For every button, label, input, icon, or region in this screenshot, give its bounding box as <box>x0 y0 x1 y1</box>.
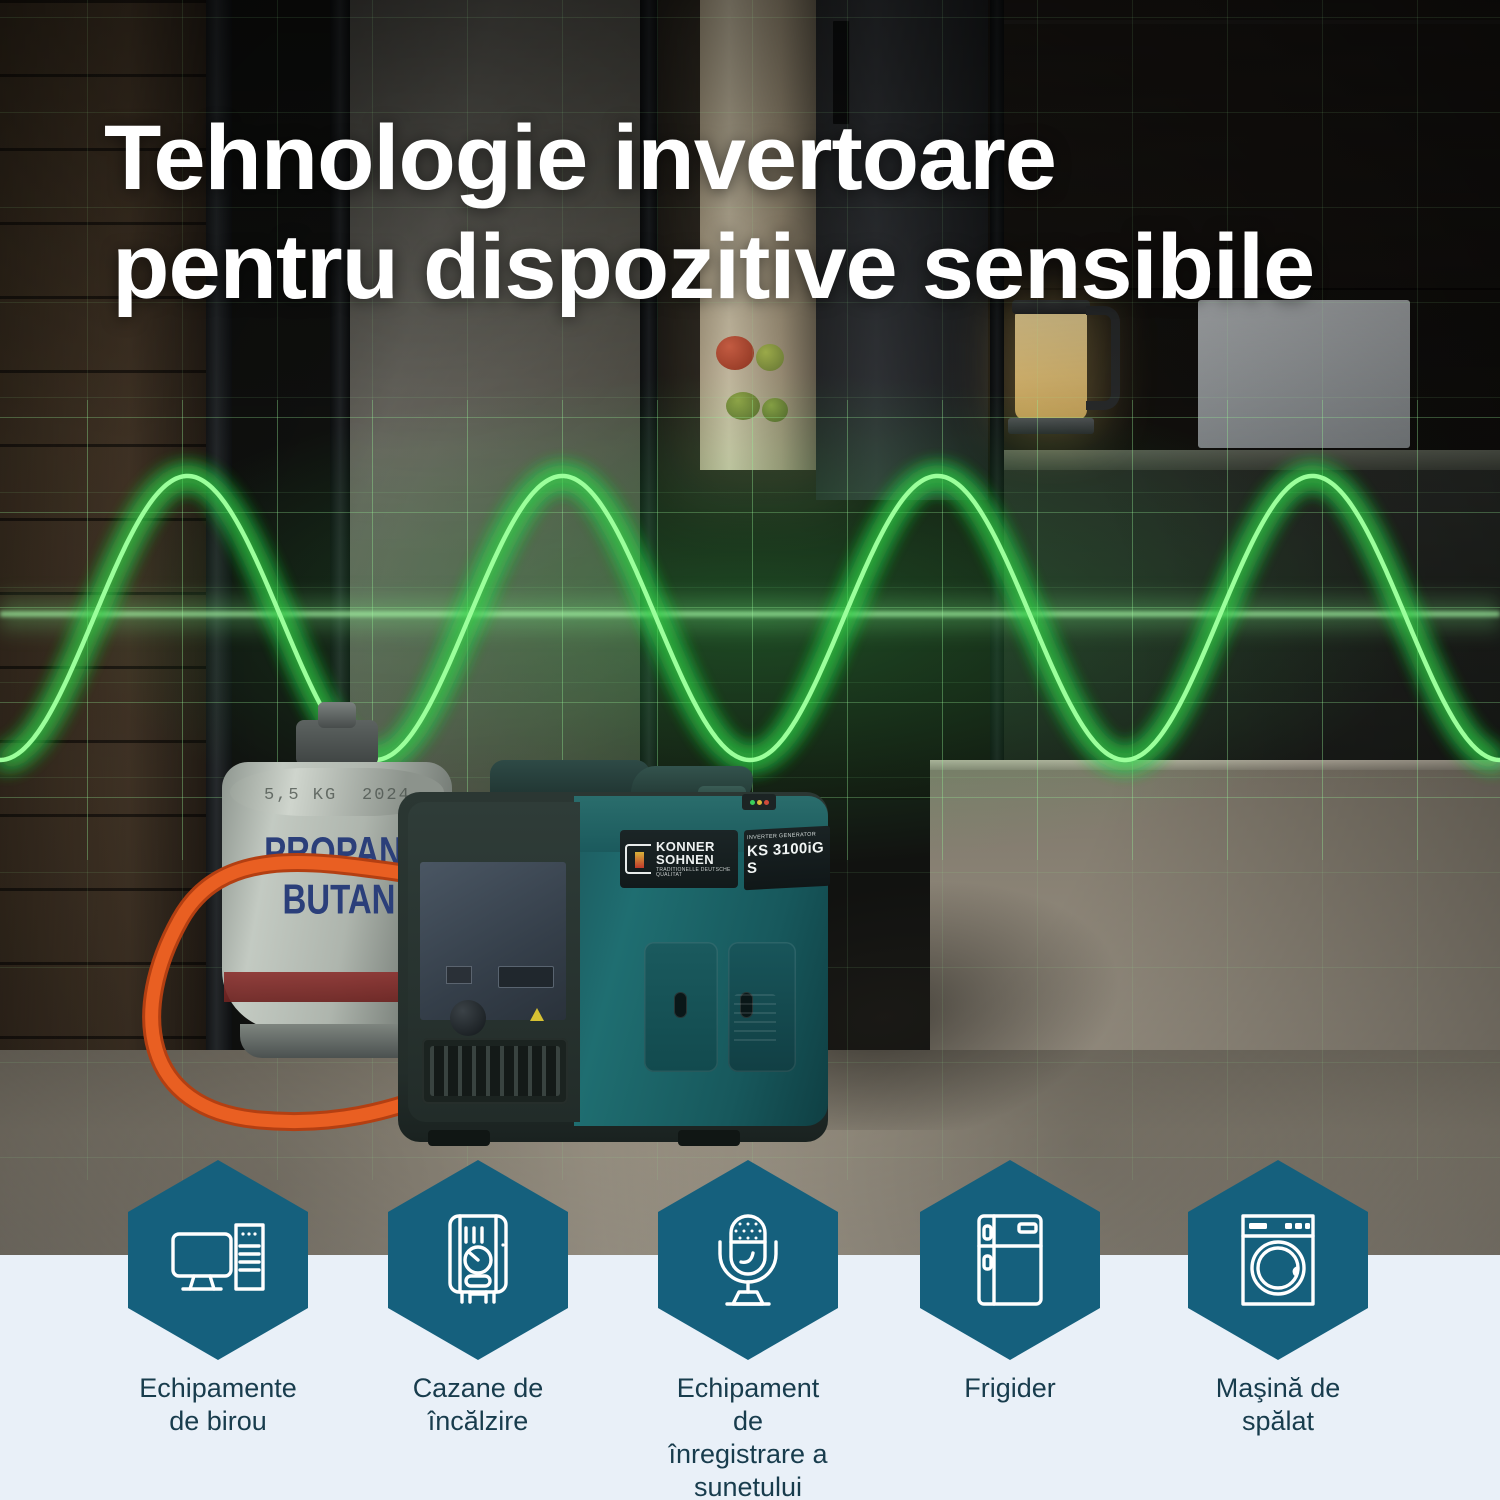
feature-heating-boiler[interactable]: Cazane de încălzire <box>388 1160 568 1438</box>
feature-label: Echipament de înregistrare a sunetului <box>658 1372 838 1500</box>
microphone-icon <box>658 1160 838 1360</box>
inverter-generator: KONNER SOHNEN TRADITIONELLE DEUTSCHE QUA… <box>398 772 828 1162</box>
feature-washing-machine[interactable]: Maşină de spălat <box>1188 1160 1368 1438</box>
feature-label: Frigider <box>920 1372 1100 1405</box>
generator-foot <box>428 1130 490 1146</box>
desktop-computer-icon <box>128 1160 308 1360</box>
feature-label: Maşină de spălat <box>1188 1372 1368 1438</box>
feature-label: Cazane de încălzire <box>388 1372 568 1438</box>
feature-list: Echipamente de birou <box>0 1160 1500 1500</box>
marketing-banner: 1:48 <box>0 0 1500 1500</box>
headline-line-2: pentru dispozitive sensibile <box>104 213 1430 322</box>
feature-office-equipment[interactable]: Echipamente de birou <box>128 1160 308 1438</box>
generator-foot <box>678 1130 740 1146</box>
panel-selector-knob[interactable] <box>450 1000 486 1036</box>
status-led-strip <box>742 794 776 810</box>
water-heater-icon <box>388 1160 568 1360</box>
grille-bars <box>430 1046 560 1096</box>
refrigerator-icon <box>920 1160 1100 1360</box>
brand-badge: KONNER SOHNEN TRADITIONELLE DEUTSCHE QUA… <box>620 830 738 888</box>
model-badge: INVERTER GENERATOR KS 3100iG S <box>744 826 830 891</box>
control-panel <box>420 862 566 1020</box>
service-hatch <box>644 942 718 1072</box>
warning-triangle-icon <box>530 1008 544 1021</box>
headline-line-1: Tehnologie invertoare <box>104 104 1430 213</box>
feature-refrigerator[interactable]: Frigider <box>920 1160 1100 1405</box>
ks-logo-icon <box>625 844 651 874</box>
feature-label: Echipamente de birou <box>128 1372 308 1438</box>
washing-machine-icon <box>1188 1160 1368 1360</box>
brand-tagline: TRADITIONELLE DEUTSCHE QUALITAT <box>656 868 733 878</box>
panel-switch[interactable] <box>446 966 472 984</box>
air-vents <box>734 994 776 1048</box>
brand-line-2: SOHNEN <box>656 853 733 866</box>
feature-sound-recording[interactable]: Echipament de înregistrare a sunetului <box>658 1160 838 1500</box>
hatch-slot <box>674 992 687 1018</box>
model-number: KS 3100iG S <box>747 839 827 877</box>
exhaust-grille <box>422 1038 568 1104</box>
panel-display <box>498 966 554 988</box>
headline: Tehnologie invertoare pentru dispozitive… <box>104 104 1430 321</box>
